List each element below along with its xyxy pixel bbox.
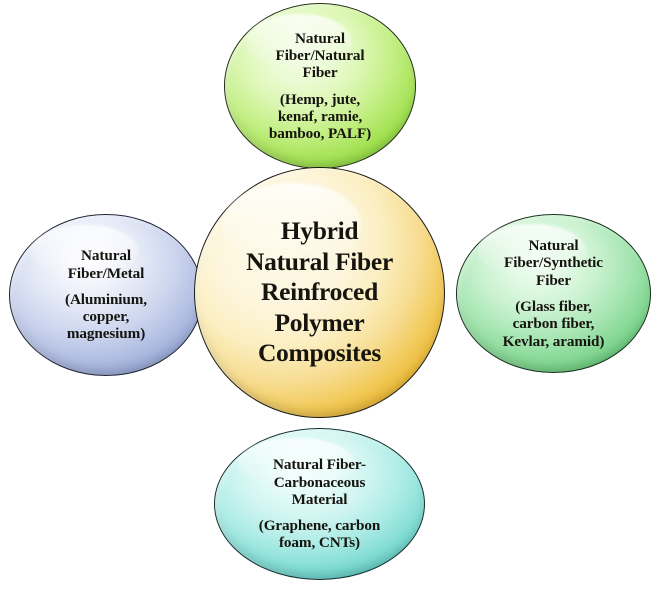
- bubble-title-right: Natural Fiber/Synthetic Fiber: [504, 237, 603, 289]
- bubble-title-left: Natural Fiber/Metal: [68, 247, 145, 282]
- diagram-canvas: Natural Fiber/Natural Fiber (Hemp, jute,…: [0, 0, 659, 592]
- bubble-natural-fiber-natural-fiber[interactable]: Natural Fiber/Natural Fiber (Hemp, jute,…: [224, 3, 416, 169]
- bubble-natural-fiber-metal[interactable]: Natural Fiber/Metal (Aluminium, copper, …: [9, 214, 203, 376]
- bubble-title-top: Natural Fiber/Natural Fiber: [276, 30, 365, 82]
- center-title: Hybrid Natural Fiber Reinfroced Polymer …: [246, 216, 393, 369]
- bubble-natural-fiber-synthetic-fiber[interactable]: Natural Fiber/Synthetic Fiber (Glass fib…: [456, 214, 651, 373]
- bubble-subtitle-top: (Hemp, jute, kenaf, ramie, bamboo, PALF): [269, 91, 371, 143]
- bubble-subtitle-left: (Aluminium, copper, magnesium): [65, 291, 147, 343]
- bubble-subtitle-right: (Glass fiber, carbon fiber, Kevlar, aram…: [503, 298, 605, 350]
- bubble-subtitle-bottom: (Graphene, carbon foam, CNTs): [259, 517, 380, 552]
- bubble-center-hybrid-composites[interactable]: Hybrid Natural Fiber Reinfroced Polymer …: [194, 167, 445, 418]
- bubble-natural-fiber-carbonaceous-material[interactable]: Natural Fiber- Carbonaceous Material (Gr…: [214, 428, 425, 580]
- bubble-title-bottom: Natural Fiber- Carbonaceous Material: [273, 456, 366, 508]
